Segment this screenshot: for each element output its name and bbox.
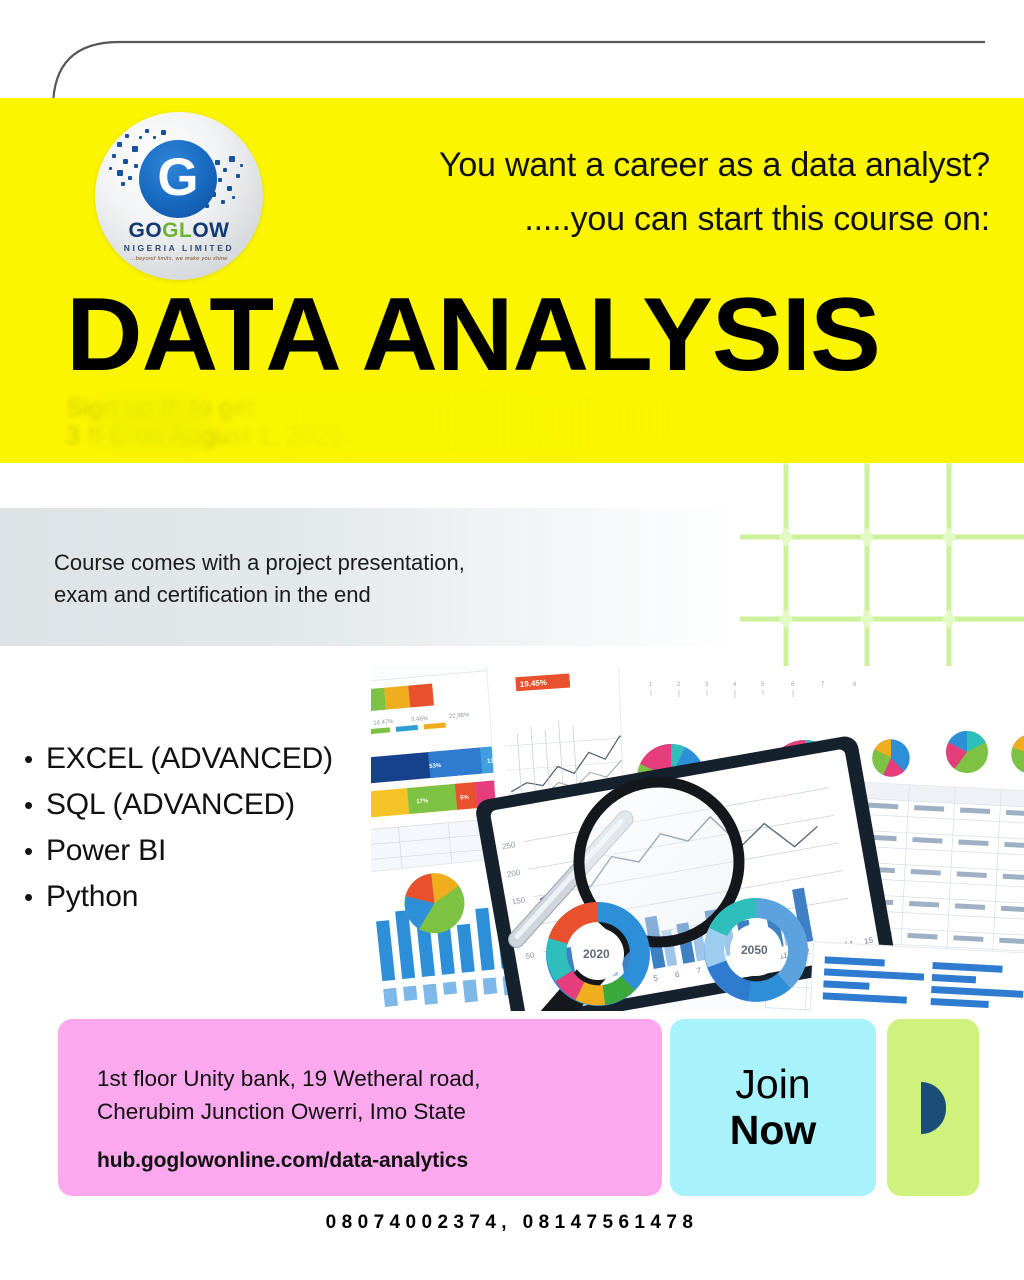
svg-text:2050: 2050 — [741, 943, 768, 957]
join-now-label-line-2: Now — [730, 1108, 817, 1154]
hero-headline-line-2: .....you can start this course on: — [290, 194, 990, 246]
website-url[interactable]: hub.goglowonline.com/data-analytics — [97, 1149, 468, 1173]
phone-numbers: 08074002374, 08147561478 — [0, 1212, 1024, 1234]
note-line-1: Course comes with a project presentation… — [54, 547, 674, 579]
bullet-icon: • — [24, 874, 46, 920]
logo-wordmark-part-2: GL — [162, 219, 192, 242]
curriculum-item-label: Power BI — [46, 828, 166, 874]
poster-root: G GOGLOW NIGERIA LIMITED ...beyond limit… — [0, 0, 1024, 1280]
smudge-overlay-right — [226, 394, 666, 452]
hero-headline-line-1: You want a career as a data analyst? — [290, 140, 990, 192]
note-line-2: exam and certification in the end — [54, 579, 674, 611]
green-grid-decoration — [700, 430, 1024, 680]
curriculum-item-label: EXCEL (ADVANCED) — [46, 736, 333, 782]
list-item: •Power BI — [24, 828, 384, 874]
logo-wordmark-part-1: GO — [129, 219, 163, 242]
bullet-icon: • — [24, 782, 46, 828]
logo-tagline: ...beyond limits, we make you shine — [95, 256, 263, 262]
logo-monogram: G — [139, 138, 217, 216]
hero-headline: You want a career as a data analyst? ...… — [290, 140, 990, 245]
svg-text:17%: 17% — [416, 798, 429, 805]
hero-banner: G GOGLOW NIGERIA LIMITED ...beyond limit… — [0, 98, 1024, 463]
data-analysis-photo: 5.47%14.47% 3.46%22.98% — [371, 666, 1024, 1011]
join-now-button[interactable]: Join Now — [670, 1019, 876, 1196]
list-item: •SQL (ADVANCED) — [24, 782, 384, 828]
list-item: •Python — [24, 874, 384, 920]
half-circle-icon — [921, 1082, 946, 1134]
curriculum-list: •EXCEL (ADVANCED) •SQL (ADVANCED) •Power… — [24, 736, 384, 920]
obscured-promo-text: Sign up th to get 3 !! C on August 1, 20… — [66, 394, 666, 452]
address-line-2: Cherubim Junction Owerri, Imo State — [97, 1095, 481, 1128]
logo-subtitle: NIGERIA LIMITED — [95, 243, 263, 253]
svg-text:5%: 5% — [460, 795, 470, 802]
address-lines: 1st floor Unity bank, 19 Wetheral road, … — [97, 1062, 481, 1128]
bullet-icon: • — [24, 736, 46, 782]
hero-top-row: G GOGLOW NIGERIA LIMITED ...beyond limit… — [0, 98, 1024, 283]
svg-text:53%: 53% — [429, 763, 442, 770]
note-text: Course comes with a project presentation… — [54, 547, 674, 611]
logo-wordmark-part-3: OW — [192, 219, 229, 242]
accent-icon-card[interactable] — [887, 1019, 979, 1196]
address-card: 1st floor Unity bank, 19 Wetheral road, … — [58, 1019, 662, 1196]
curriculum-item-label: Python — [46, 874, 138, 920]
goglow-logo: G GOGLOW NIGERIA LIMITED ...beyond limit… — [95, 112, 263, 280]
list-item: •EXCEL (ADVANCED) — [24, 736, 384, 782]
svg-text:2020: 2020 — [583, 947, 610, 961]
curriculum-item-label: SQL (ADVANCED) — [46, 782, 295, 828]
svg-text:19.45%: 19.45% — [520, 678, 548, 689]
page-title: DATA ANALYSIS — [66, 283, 1015, 387]
address-line-1: 1st floor Unity bank, 19 Wetheral road, — [97, 1062, 481, 1095]
join-now-label-line-1: Join — [735, 1062, 810, 1108]
smudge-overlay-left — [104, 394, 204, 450]
logo-wordmark: GOGLOW — [95, 220, 263, 241]
bullet-icon: • — [24, 828, 46, 874]
